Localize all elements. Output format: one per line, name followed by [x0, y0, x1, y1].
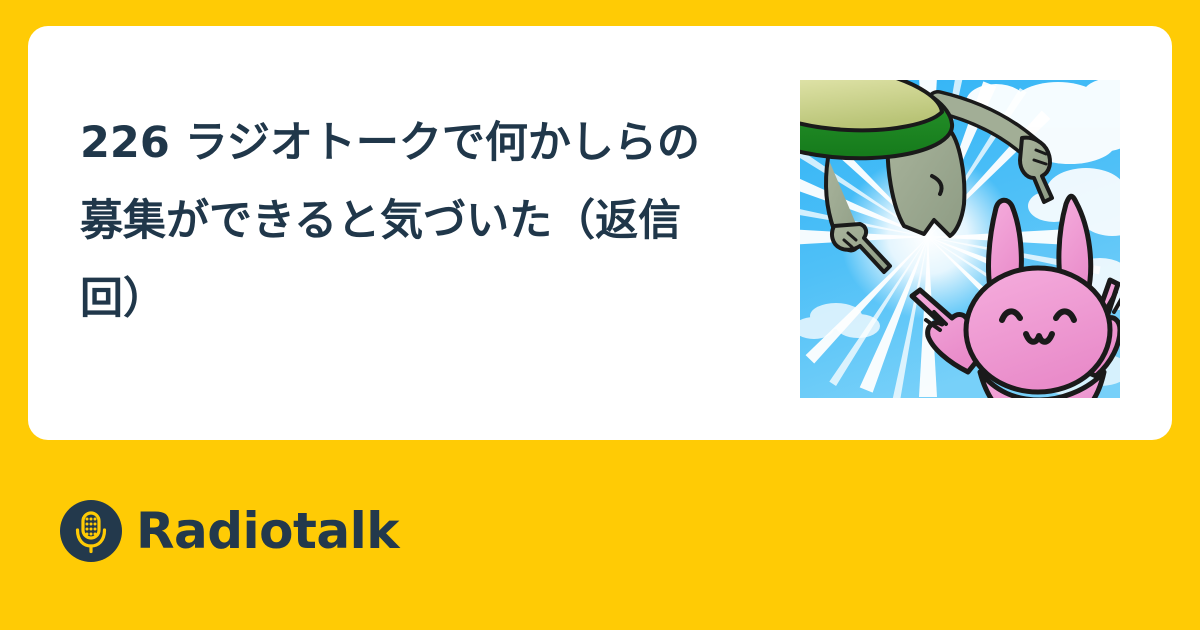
radiotalk-brand[interactable]: Radiotalk	[60, 500, 399, 562]
episode-card: 226 ラジオトークで何かしらの募集ができると気づいた（返信回）	[28, 26, 1172, 440]
episode-title: 226 ラジオトークで何かしらの募集ができると気づいた（返信回）	[80, 104, 740, 338]
brand-name: Radiotalk	[136, 506, 399, 556]
episode-thumbnail	[800, 80, 1120, 398]
card-footer: Radiotalk 12:00	[0, 440, 1200, 630]
episode-card-inner: 226 ラジオトークで何かしらの募集ができると気づいた（返信回）	[28, 26, 1172, 440]
radiotalk-og-card: 226 ラジオトークで何かしらの募集ができると気づいた（返信回）	[0, 0, 1200, 630]
episode-title-container: 226 ラジオトークで何かしらの募集ができると気づいた（返信回）	[28, 26, 800, 338]
microphone-icon	[60, 500, 122, 562]
thumbnail-illustration	[800, 80, 1120, 398]
